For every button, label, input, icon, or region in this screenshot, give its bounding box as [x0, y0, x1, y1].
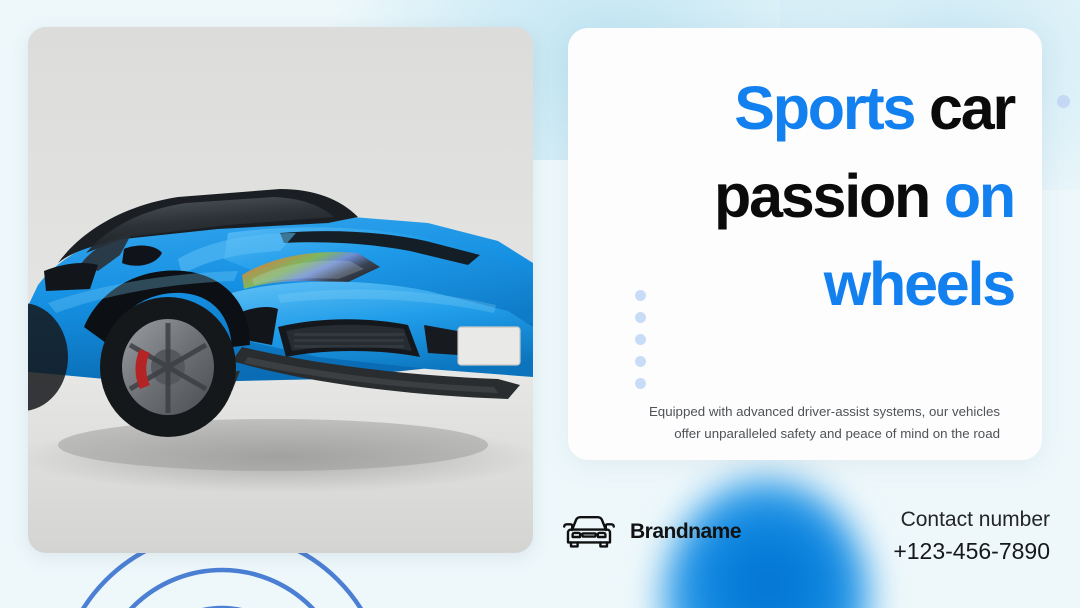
car-photo-card [28, 27, 533, 553]
headline-word-on: on [944, 162, 1014, 230]
decorative-dot [635, 312, 646, 323]
body-paragraph: Equipped with advanced driver-assist sys… [620, 401, 1000, 445]
right-edge-dot [1057, 95, 1070, 108]
brand-lockup: Brandname [560, 512, 741, 552]
page-title: Sports car passion on wheels [596, 64, 1014, 328]
headline-word-passion: passion [714, 162, 929, 230]
car-photo-illustration [28, 27, 533, 553]
contact-block: Contact number +123-456-7890 [893, 505, 1050, 567]
headline-card: Sports car passion on wheels Equipped wi… [568, 28, 1042, 460]
decorative-dot [635, 334, 646, 345]
decorative-dot [635, 378, 646, 389]
decorative-dot-column [635, 290, 646, 389]
poster-canvas: Sports car passion on wheels Equipped wi… [0, 0, 1080, 608]
decorative-dot [635, 290, 646, 301]
car-front-icon [560, 512, 618, 552]
headline-word-sports: Sports [734, 74, 914, 142]
headline-word-car: car [929, 74, 1014, 142]
contact-label: Contact number [893, 505, 1050, 535]
brand-name: Brandname [630, 520, 741, 544]
decorative-dot [635, 356, 646, 367]
headline-word-wheels: wheels [824, 250, 1014, 318]
contact-number: +123-456-7890 [893, 535, 1050, 567]
